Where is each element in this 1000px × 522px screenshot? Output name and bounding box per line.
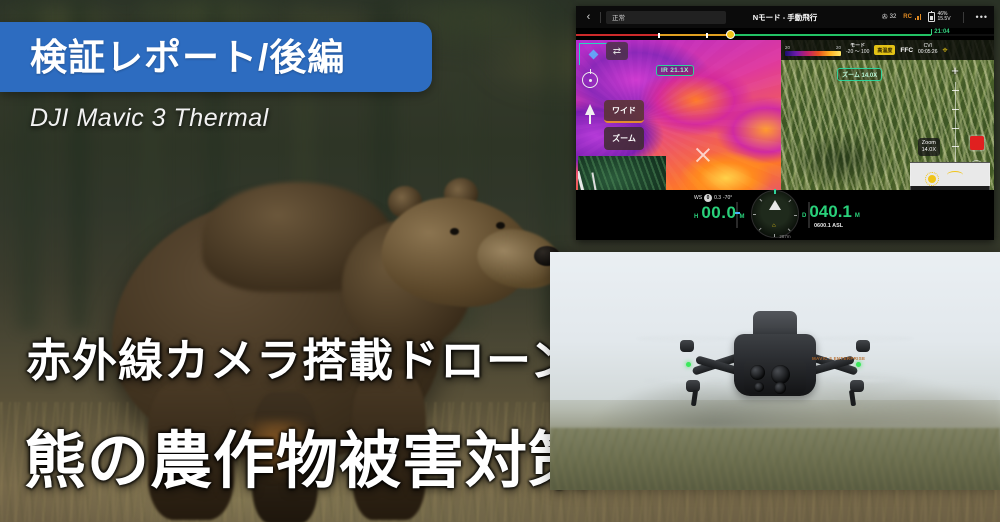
- divider-2: [963, 12, 964, 23]
- timeline-marker-2: [706, 33, 708, 38]
- distance-readout: D 040.1 M 0600.1 ASL: [802, 202, 860, 229]
- more-options-icon[interactable]: •••: [976, 13, 988, 22]
- palette-icon[interactable]: ⇄: [606, 42, 628, 60]
- led-left: [686, 362, 691, 367]
- distance-unit: D: [802, 213, 806, 219]
- telemetry-bar: WS 0 0.3 -70° H 00.0 M: [576, 190, 994, 240]
- thermal-mode-range: -20 ～ 100: [846, 50, 869, 56]
- drone-product-photo: MAVIC 3 ENTERPRISE: [550, 252, 1000, 490]
- flight-arc: [947, 171, 963, 179]
- altitude-readout: WS 0 0.3 -70° H 00.0 M: [694, 194, 744, 223]
- divider: [600, 12, 601, 23]
- zoom-in-icon[interactable]: +: [951, 64, 959, 77]
- thermal-mode-readout[interactable]: モード -20 ～ 100: [846, 44, 869, 56]
- report-label-chip: 検証レポート/後編: [0, 22, 432, 92]
- palette-gradient: [785, 51, 841, 56]
- wide-lens-button[interactable]: ワイド: [604, 100, 644, 123]
- wind-badge: 0: [704, 194, 712, 202]
- thermal-settings-bar: 20 20 モード -20 ～ 100 高温度 FFC CVI 00:05:26: [781, 40, 994, 60]
- timeline-marker-1: [658, 33, 660, 38]
- drone-aircraft: MAVIC 3 ENTERPRISE: [650, 306, 900, 416]
- timeline-segment-red: [576, 34, 660, 36]
- zoom-readout-value: 14.0X: [922, 147, 936, 154]
- distance-suffix: M: [855, 213, 860, 219]
- controller-top-bar: ‹ 正常 Nモード - 手動飛行 ✇ 32 RC 46%: [576, 6, 994, 28]
- palette-range-labels: 20 20: [785, 45, 841, 50]
- ir-zoom-badge: IR 21.1X: [656, 65, 694, 76]
- rgb-zoom-badge: ズーム 14.0X: [837, 68, 882, 81]
- rc-label: RC: [903, 14, 912, 20]
- drone-controller-screenshot: ‹ 正常 Nモード - 手動飛行 ✇ 32 RC 46%: [576, 6, 994, 240]
- target-icon[interactable]: [582, 72, 598, 88]
- timeline-knob[interactable]: [726, 30, 735, 39]
- flight-status-pill[interactable]: 正常: [606, 11, 726, 24]
- center-crosshair-icon: [694, 146, 712, 164]
- satellite-icon: ✇: [882, 13, 888, 21]
- palette-min: 20: [785, 45, 790, 50]
- high-temp-badge: 高温度: [874, 45, 895, 55]
- distance-value: 040.1: [809, 202, 852, 222]
- thermal-lens: [750, 365, 765, 380]
- signal-bars-icon: [915, 14, 922, 20]
- location-pin-icon: [584, 104, 596, 124]
- zoom-level-readout: Zoom 14.0X: [918, 138, 940, 156]
- led-right: [856, 362, 861, 367]
- drone-model-label: MAVIC 3 ENTERPRISE: [812, 356, 865, 361]
- hero-banner: 検証レポート/後編 DJI Mavic 3 Thermal 赤外線カメラ搭載ドロ…: [0, 0, 1000, 522]
- tele-lens: [754, 382, 764, 392]
- flight-status-text: 正常: [612, 12, 625, 22]
- timeline-time-label: 21:04: [931, 29, 949, 35]
- framing-corner-icon: [579, 43, 607, 65]
- cvi-timer: 00:05:26: [918, 50, 937, 56]
- product-subtitle: DJI Mavic 3 Thermal: [30, 104, 269, 133]
- motor-front-right: [856, 340, 870, 352]
- altitude-suffix: M: [739, 214, 744, 220]
- distance-value-row: D 040.1 M: [802, 202, 860, 222]
- altitude-value: 00.0: [701, 203, 736, 223]
- zoom-readout-label: Zoom: [922, 140, 936, 147]
- ground-foreground: [550, 428, 1000, 490]
- rc-signal-status[interactable]: RC: [903, 14, 921, 20]
- timeline-segment-amber: [660, 34, 731, 36]
- sensor-lens: [774, 382, 786, 394]
- battery-status[interactable]: 46% 15.5V: [928, 12, 950, 23]
- wind-label: WS: [694, 195, 702, 201]
- report-label-text: 検証レポート/後編: [30, 39, 345, 76]
- propeller-back-right: [826, 378, 906, 383]
- motor-front-left: [680, 340, 694, 352]
- wind-readout: WS 0 0.3 -70°: [694, 194, 744, 202]
- gimbal-angle: -70°: [723, 195, 732, 201]
- ffc-button[interactable]: FFC: [900, 47, 913, 54]
- battery-timeline[interactable]: 21:04: [576, 28, 994, 40]
- bear-eye-right: [496, 222, 505, 229]
- cvi-readout: CVI 00:05:26: [918, 44, 937, 56]
- compass-widget[interactable]: [751, 190, 799, 238]
- back-icon[interactable]: ‹: [582, 12, 595, 23]
- timeline-segment-green: [731, 34, 932, 36]
- gimbal-icon[interactable]: ⌖: [942, 46, 947, 55]
- headline-line-2: 熊の農作物被害対策: [24, 410, 591, 500]
- sun-icon: [928, 175, 936, 183]
- altitude-value-row: H 00.0 M: [694, 203, 744, 223]
- headline-line-1: 赤外線カメラ搭載ドローンで: [26, 324, 622, 389]
- zoom-lens-button[interactable]: ズーム: [604, 127, 644, 150]
- altitude-unit: H: [694, 214, 698, 220]
- palette-max: 20: [836, 45, 841, 50]
- status-indicators: ✇ 32 RC 46% 15.5V •••: [882, 12, 988, 23]
- thermal-palette-bar[interactable]: 20 20: [785, 45, 841, 56]
- asl-value: 0600.1 ASL: [814, 223, 860, 229]
- map-scale-label: 287m: [779, 234, 790, 239]
- compass-heading-marker: [774, 189, 776, 194]
- landing-leg-left: [691, 390, 698, 407]
- record-button[interactable]: [970, 136, 984, 150]
- satellite-count: 32: [890, 14, 897, 20]
- battery-voltage: 15.5V: [937, 17, 950, 22]
- propeller-back-left: [644, 378, 724, 383]
- battery-icon: [928, 12, 935, 22]
- wind-value: 0.3: [714, 195, 721, 201]
- bear-eye-left: [450, 228, 459, 235]
- battery-readout: 46% 15.5V: [937, 12, 950, 23]
- home-point-icon: ⌂: [772, 223, 776, 229]
- landing-leg-right: [849, 390, 856, 407]
- satellite-status[interactable]: ✇ 32: [882, 13, 897, 21]
